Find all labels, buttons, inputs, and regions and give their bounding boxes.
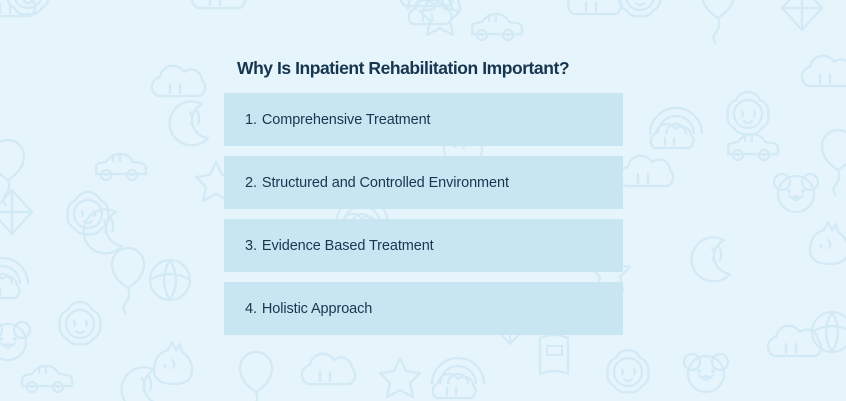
list-item[interactable]: 3. Evidence Based Treatment — [224, 219, 623, 272]
benefits-list: 1. Comprehensive Treatment 2. Structured… — [224, 93, 623, 335]
infographic-card: Why Is Inpatient Rehabilitation Importan… — [0, 0, 846, 401]
list-item-index: 4. — [245, 301, 257, 317]
list-item-index: 1. — [245, 112, 257, 128]
content-area: Why Is Inpatient Rehabilitation Importan… — [0, 0, 846, 401]
list-item[interactable]: 2. Structured and Controlled Environment — [224, 156, 623, 209]
list-item-index: 3. — [245, 238, 257, 254]
list-item-label: Structured and Controlled Environment — [262, 175, 509, 191]
list-item[interactable]: 4. Holistic Approach — [224, 282, 623, 335]
page-title: Why Is Inpatient Rehabilitation Importan… — [237, 58, 637, 79]
list-item[interactable]: 1. Comprehensive Treatment — [224, 93, 623, 146]
list-item-label: Holistic Approach — [262, 301, 372, 317]
list-item-index: 2. — [245, 175, 257, 191]
list-item-label: Comprehensive Treatment — [262, 112, 431, 128]
list-item-label: Evidence Based Treatment — [262, 238, 434, 254]
